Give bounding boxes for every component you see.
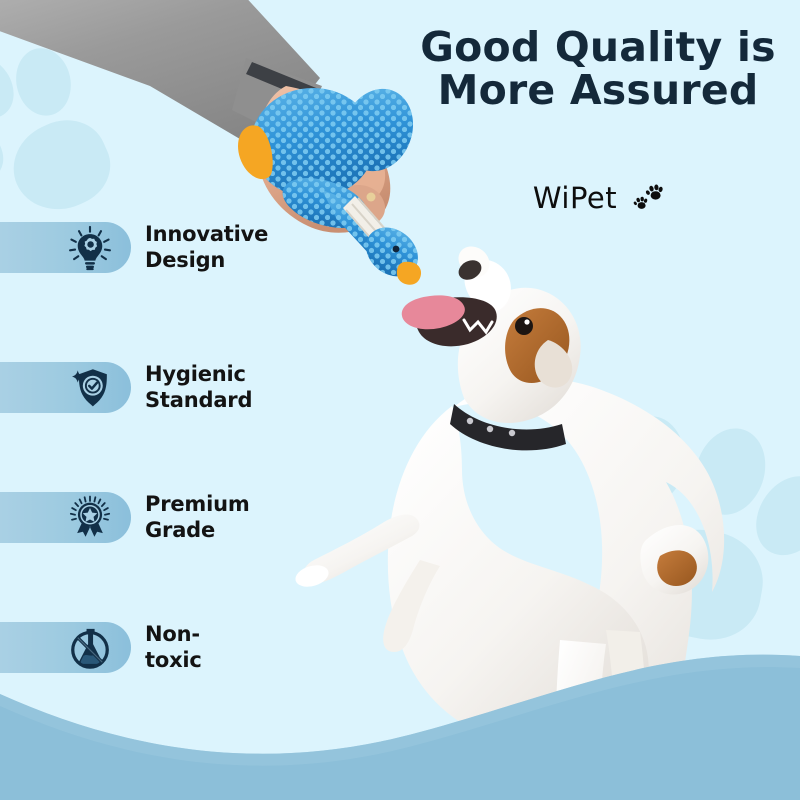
promo-banner: Good Quality is More Assured WiPet xyxy=(0,0,800,800)
feature-label: Innovative Design xyxy=(145,222,268,273)
headline-line-2: More Assured xyxy=(402,69,794,112)
no-toxic-flask-icon xyxy=(67,625,113,671)
lightbulb-gear-icon xyxy=(67,225,113,271)
feature-label: Non- toxic xyxy=(145,622,202,673)
paw-print-icon xyxy=(629,184,663,214)
brand-logo: WiPet xyxy=(402,182,794,216)
headline: Good Quality is More Assured xyxy=(402,26,794,113)
feature-icon-pill xyxy=(0,362,131,413)
feature-icon-pill xyxy=(0,222,131,273)
brand-name: WiPet xyxy=(533,181,617,215)
feature-item-innovative-design[interactable]: Innovative Design xyxy=(0,222,268,273)
feature-item-hygienic-standard[interactable]: Hygienic Standard xyxy=(0,362,252,413)
feature-label: Hygienic Standard xyxy=(145,362,252,413)
award-rosette-star-icon xyxy=(67,495,113,541)
feature-label: Premium Grade xyxy=(145,492,250,543)
feature-icon-pill xyxy=(0,622,131,673)
feature-item-non-toxic[interactable]: Non- toxic xyxy=(0,622,202,673)
shield-check-sparkle-icon xyxy=(67,365,113,411)
orange-beak xyxy=(397,262,421,285)
feature-item-premium-grade[interactable]: Premium Grade xyxy=(0,492,250,543)
headline-line-1: Good Quality is xyxy=(420,23,775,71)
feature-icon-pill xyxy=(0,492,131,543)
